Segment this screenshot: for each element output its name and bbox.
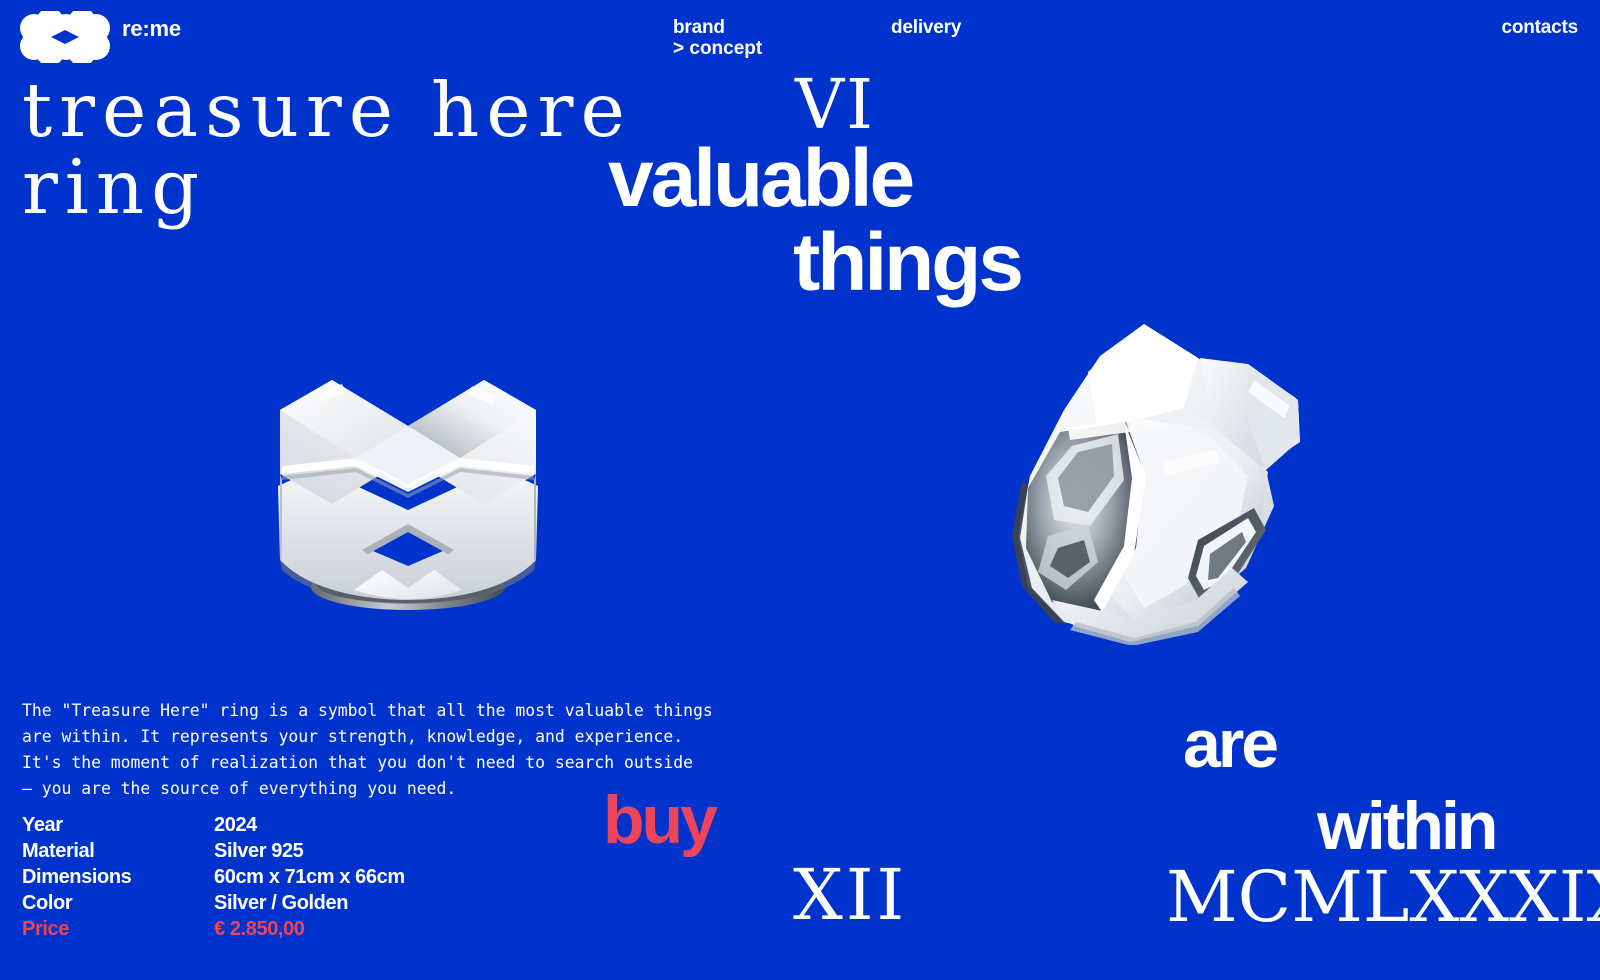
cloud-flower-logo-icon[interactable]: [19, 11, 111, 63]
product-image-front[interactable]: [258, 298, 558, 628]
table-row-price: Price € 2.850,00: [22, 916, 405, 942]
spec-value: 2024: [214, 812, 257, 838]
roman-numeral-six: VI: [795, 72, 875, 140]
statement-valuable: valuable: [608, 138, 912, 220]
product-spec-table: Year 2024 Material Silver 925 Dimensions…: [22, 812, 405, 942]
spec-key: Color: [22, 890, 214, 916]
spec-key-price: Price: [22, 916, 214, 942]
landing-page: re:me brand > concept delivery contacts …: [0, 0, 1600, 980]
spec-key: Dimensions: [22, 864, 214, 890]
table-row: Year 2024: [22, 812, 405, 838]
nav-item-delivery[interactable]: delivery: [891, 18, 961, 38]
spec-value: Silver 925: [214, 838, 303, 864]
nav-item-contacts[interactable]: contacts: [1501, 18, 1578, 38]
nav-item-brand-sublabel: > concept: [673, 38, 762, 60]
table-row: Material Silver 925: [22, 838, 405, 864]
spec-value: Silver / Golden: [214, 890, 348, 916]
spec-key: Year: [22, 812, 214, 838]
page-title: treasure herering: [22, 72, 632, 225]
roman-numeral-year: MCMLXXXIX: [1166, 862, 1600, 932]
spec-key: Material: [22, 838, 214, 864]
site-header: re:me brand > concept delivery contacts: [0, 0, 1600, 72]
spec-value-price: € 2.850,00: [214, 916, 305, 942]
nav-item-contacts-label: contacts: [1501, 17, 1578, 38]
statement-things: things: [793, 222, 1021, 304]
roman-numeral-twelve: XII: [793, 860, 907, 930]
buy-button[interactable]: buy: [603, 786, 715, 854]
page-title-line-1: treasure here: [22, 66, 632, 154]
statement-within: within: [1317, 792, 1495, 860]
table-row: Dimensions 60cm x 71cm x 66cm: [22, 864, 405, 890]
statement-are: are: [1183, 710, 1276, 778]
wordmark[interactable]: re:me: [122, 18, 181, 40]
page-title-line-2: ring: [22, 143, 206, 231]
spec-value: 60cm x 71cm x 66cm: [214, 864, 405, 890]
nav-item-brand-label: brand: [673, 17, 725, 38]
product-image-angled[interactable]: [948, 300, 1318, 645]
table-row: Color Silver / Golden: [22, 890, 405, 916]
nav-item-delivery-label: delivery: [891, 17, 961, 38]
nav-item-brand[interactable]: brand > concept: [673, 18, 762, 60]
